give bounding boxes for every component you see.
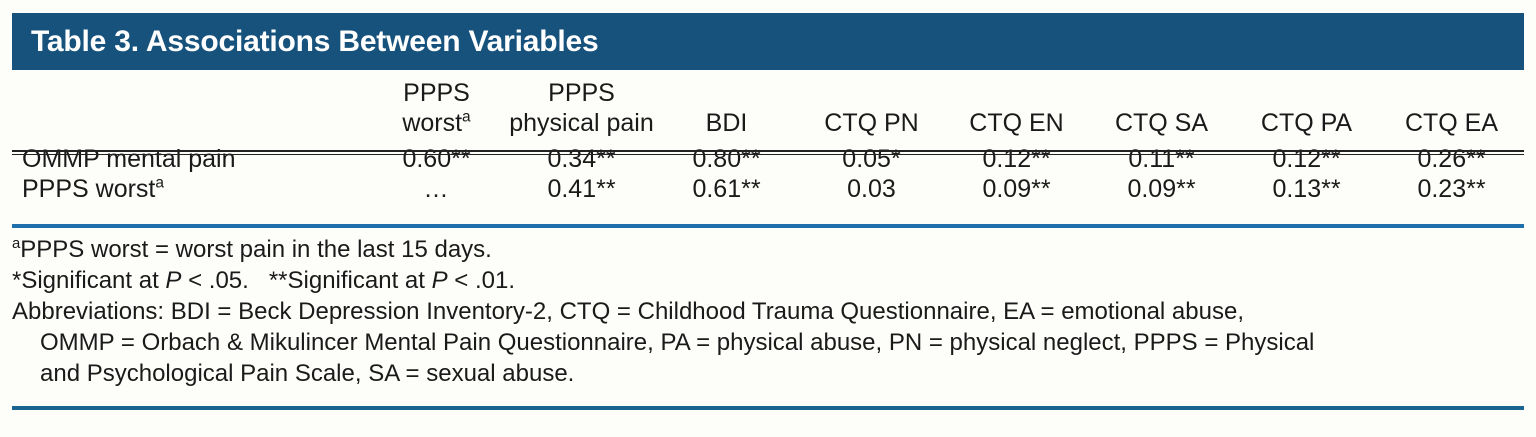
footnote-a: aPPPS worst = worst pain in the last 15 …	[12, 234, 1512, 265]
cell-ppps-worst-bdi: 0.61**	[654, 174, 799, 204]
column-header-ctq-sa: X CTQ SA	[1089, 78, 1234, 138]
cell-ommp-ppps-physical-pain: 0.34**	[509, 138, 654, 174]
cell-ommp-bdi: 0.80**	[654, 138, 799, 174]
table-body: OMMP mental pain 0.60** 0.34** 0.80** 0.…	[12, 138, 1524, 204]
table-header-row: X PPPS worsta PPPS physical pain X BDI X	[12, 78, 1524, 138]
cell-ommp-ctq-pn: 0.05*	[799, 138, 944, 174]
footnote-marker-a: a	[155, 175, 164, 192]
cell-ppps-worst-ctq-pa: 0.13**	[1234, 174, 1379, 204]
row-label-ppps-worst: PPPS worsta	[12, 174, 364, 204]
column-header-rowlabel: X	[12, 78, 364, 138]
column-header-ctq-ea: X CTQ EA	[1379, 78, 1524, 138]
page-title: Table 3. Associations Between Variables	[12, 25, 598, 59]
cell-ommp-ppps-worst: 0.60**	[364, 138, 509, 174]
cell-ppps-worst-ctq-pn: 0.03	[799, 174, 944, 204]
column-header-ctq-pn: X CTQ PN	[799, 78, 944, 138]
footnote-abbreviations-line2: OMMP = Orbach & Mikulincer Mental Pain Q…	[12, 327, 1512, 358]
cell-ommp-ctq-en: 0.12**	[944, 138, 1089, 174]
row-label-ommp-mental-pain: OMMP mental pain	[12, 138, 364, 174]
body-bottom-rule	[12, 224, 1524, 228]
column-header-ppps-worst: PPPS worsta	[364, 78, 509, 138]
footnote-marker-a: a	[462, 109, 471, 126]
cell-ppps-worst-ctq-en: 0.09**	[944, 174, 1089, 204]
table-row: PPPS worsta … 0.41** 0.61** 0.03 0.09** …	[12, 174, 1524, 204]
cell-ppps-worst-ctq-ea: 0.23**	[1379, 174, 1524, 204]
table-title-bar: Table 3. Associations Between Variables	[12, 13, 1524, 70]
table-footnotes: aPPPS worst = worst pain in the last 15 …	[12, 234, 1512, 389]
cell-ommp-ctq-pa: 0.12**	[1234, 138, 1379, 174]
cell-ppps-worst-ppps-worst: …	[364, 174, 509, 204]
cell-ommp-ctq-ea: 0.26**	[1379, 138, 1524, 174]
column-header-ctq-en: X CTQ EN	[944, 78, 1089, 138]
footnote-abbreviations-line3: and Psychological Pain Scale, SA = sexua…	[12, 358, 1512, 389]
column-header-ctq-pa: X CTQ PA	[1234, 78, 1379, 138]
associations-table: X PPPS worsta PPPS physical pain X BDI X	[12, 78, 1524, 204]
table-header: X PPPS worsta PPPS physical pain X BDI X	[12, 78, 1524, 138]
cell-ommp-ctq-sa: 0.11**	[1089, 138, 1234, 174]
cell-ppps-worst-ctq-sa: 0.09**	[1089, 174, 1234, 204]
table-row: OMMP mental pain 0.60** 0.34** 0.80** 0.…	[12, 138, 1524, 174]
footnote-abbreviations-line1: Abbreviations: BDI = Beck Depression Inv…	[12, 296, 1512, 327]
footnote-significance: *Significant at P < .05.**Significant at…	[12, 265, 1512, 296]
header-rule	[12, 150, 1524, 155]
column-header-ppps-physical-pain: PPPS physical pain	[509, 78, 654, 138]
table-bottom-rule	[12, 406, 1524, 410]
column-header-bdi: X BDI	[654, 78, 799, 138]
table-figure: Table 3. Associations Between Variables …	[0, 0, 1536, 437]
cell-ppps-worst-ppps-physical-pain: 0.41**	[509, 174, 654, 204]
